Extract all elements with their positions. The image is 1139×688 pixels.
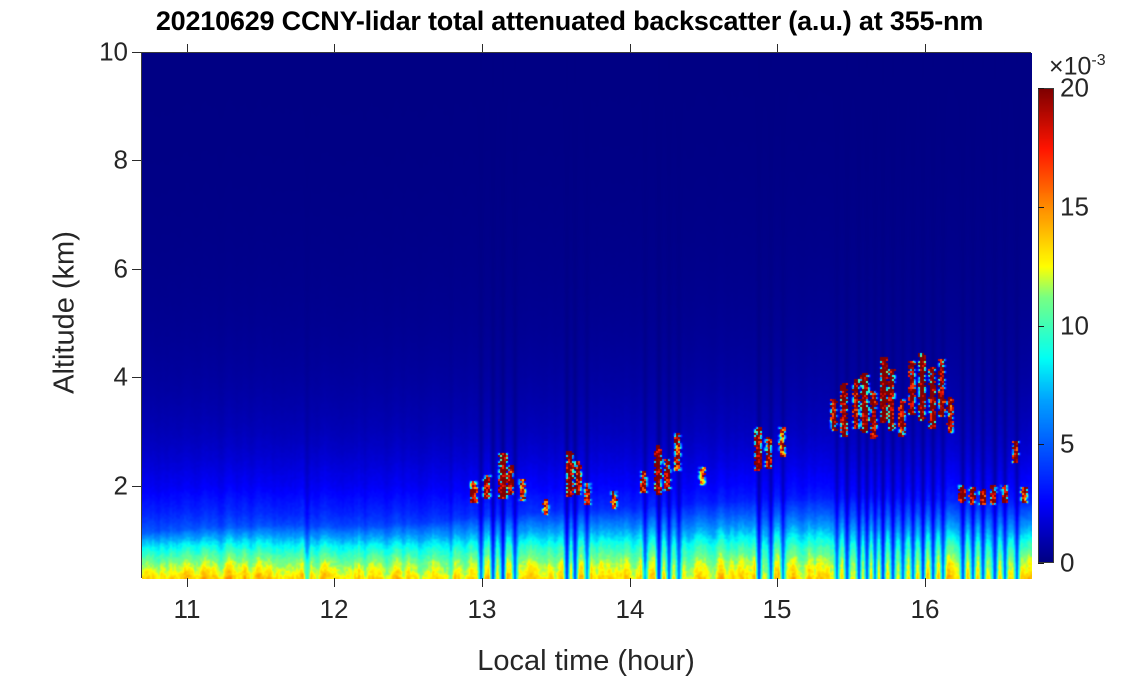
colorbar-tick-10 bbox=[1038, 326, 1044, 327]
y-tick-label-10: 10 bbox=[99, 37, 128, 68]
x-tick-top-13 bbox=[482, 44, 483, 52]
x-tick-top-14 bbox=[630, 44, 631, 52]
y-tick-8 bbox=[132, 160, 141, 161]
x-tick-top-11 bbox=[187, 44, 188, 52]
x-tick-label-15: 15 bbox=[763, 594, 792, 625]
x-tick-15 bbox=[777, 578, 778, 587]
x-tick-label-16: 16 bbox=[911, 594, 940, 625]
x-tick-label-11: 11 bbox=[174, 594, 201, 625]
colorbar-tick-label-5: 5 bbox=[1060, 429, 1074, 460]
colorbar-tick-0 bbox=[1038, 563, 1044, 564]
x-tick-14 bbox=[630, 578, 631, 587]
x-tick-top-12 bbox=[334, 44, 335, 52]
y-tick-2 bbox=[132, 486, 141, 487]
x-tick-top-16 bbox=[925, 44, 926, 52]
colorbar-tick-label-20: 20 bbox=[1060, 73, 1089, 104]
y-tick-4 bbox=[132, 377, 141, 378]
colorbar-tick-label-0: 0 bbox=[1060, 548, 1074, 579]
y-axis-label: Altitude (km) bbox=[49, 33, 82, 593]
y-tick-6 bbox=[132, 269, 141, 270]
x-tick-label-13: 13 bbox=[468, 594, 497, 625]
heatmap-axes bbox=[141, 52, 1031, 578]
page-title: 20210629 CCNY-lidar total attenuated bac… bbox=[0, 6, 1139, 37]
colorbar-tick-label-10: 10 bbox=[1060, 311, 1089, 342]
x-tick-top-15 bbox=[777, 44, 778, 52]
x-tick-11 bbox=[187, 578, 188, 587]
colorbar-tick-15 bbox=[1038, 207, 1044, 208]
backscatter-heatmap bbox=[142, 53, 1032, 579]
x-tick-16 bbox=[925, 578, 926, 587]
x-axis-label: Local time (hour) bbox=[141, 645, 1031, 678]
x-tick-label-14: 14 bbox=[616, 594, 645, 625]
y-tick-label-4: 4 bbox=[114, 362, 128, 393]
colorbar-tick-5 bbox=[1038, 444, 1044, 445]
x-tick-12 bbox=[334, 578, 335, 587]
colorbar-tick-20 bbox=[1038, 88, 1044, 89]
colorbar-tick-label-15: 15 bbox=[1060, 192, 1089, 223]
y-tick-label-2: 2 bbox=[114, 471, 128, 502]
y-tick-label-8: 8 bbox=[114, 145, 128, 176]
colorbar-exponent-power: -3 bbox=[1091, 52, 1105, 69]
x-tick-label-12: 12 bbox=[320, 594, 349, 625]
lidar-figure: 20210629 CCNY-lidar total attenuated bac… bbox=[0, 0, 1139, 688]
y-tick-label-6: 6 bbox=[114, 254, 128, 285]
y-tick-10 bbox=[132, 52, 141, 53]
x-tick-13 bbox=[482, 578, 483, 587]
